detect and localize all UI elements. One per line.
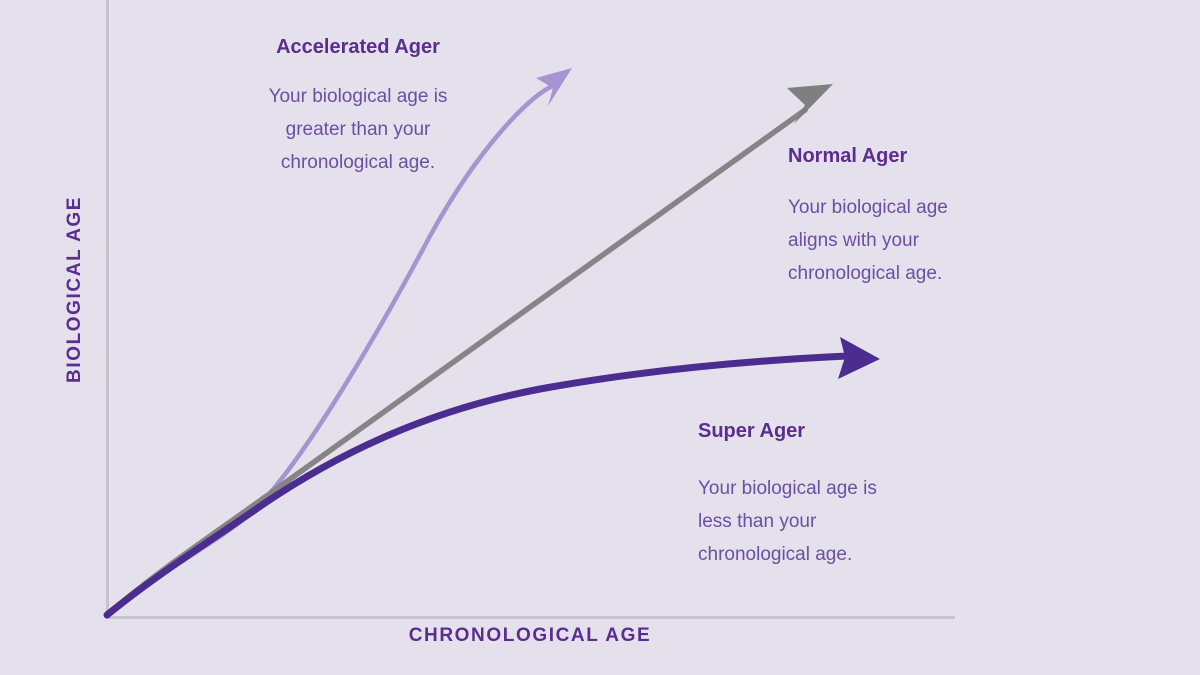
accelerated-ager-body-line-1: Your biological age is bbox=[269, 86, 448, 107]
annotation-normal-ager: Normal Ager Your biological age aligns w… bbox=[788, 143, 1108, 290]
age-trajectory-chart bbox=[0, 0, 1200, 675]
super-ager-body-line-2: less than your bbox=[698, 511, 816, 532]
annotation-super-ager: Super Ager Your biological age is less t… bbox=[698, 418, 1018, 571]
super-ager-body: Your biological age is less than your ch… bbox=[698, 472, 1018, 571]
super-ager-title: Super Ager bbox=[698, 418, 1018, 444]
normal-ager-body-line-1: Your biological age bbox=[788, 197, 948, 218]
normal-ager-body-line-3: chronological age. bbox=[788, 263, 942, 284]
accelerated-ager-body-line-3: chronological age. bbox=[281, 152, 435, 173]
x-axis-label: CHRONOLOGICAL AGE bbox=[180, 625, 880, 647]
normal-ager-body: Your biological age aligns with your chr… bbox=[788, 191, 1108, 290]
super-ager-body-line-1: Your biological age is bbox=[698, 478, 877, 499]
accelerated-ager-title: Accelerated Ager bbox=[212, 34, 504, 60]
normal-ager-body-line-2: aligns with your bbox=[788, 230, 919, 251]
accelerated-ager-body: Your biological age is greater than your… bbox=[212, 80, 504, 179]
accelerated-ager-arrowhead bbox=[536, 68, 572, 106]
super-ager-body-line-3: chronological age. bbox=[698, 544, 852, 565]
accelerated-ager-body-line-2: greater than your bbox=[286, 119, 431, 140]
normal-ager-title: Normal Ager bbox=[788, 143, 1108, 169]
infographic-canvas: BIOLOGICAL AGE CHRONOLOGICAL AGE Acceler… bbox=[0, 0, 1200, 675]
annotation-accelerated-ager: Accelerated Ager Your biological age is … bbox=[212, 34, 504, 179]
y-axis-label: BIOLOGICAL AGE bbox=[64, 223, 86, 383]
